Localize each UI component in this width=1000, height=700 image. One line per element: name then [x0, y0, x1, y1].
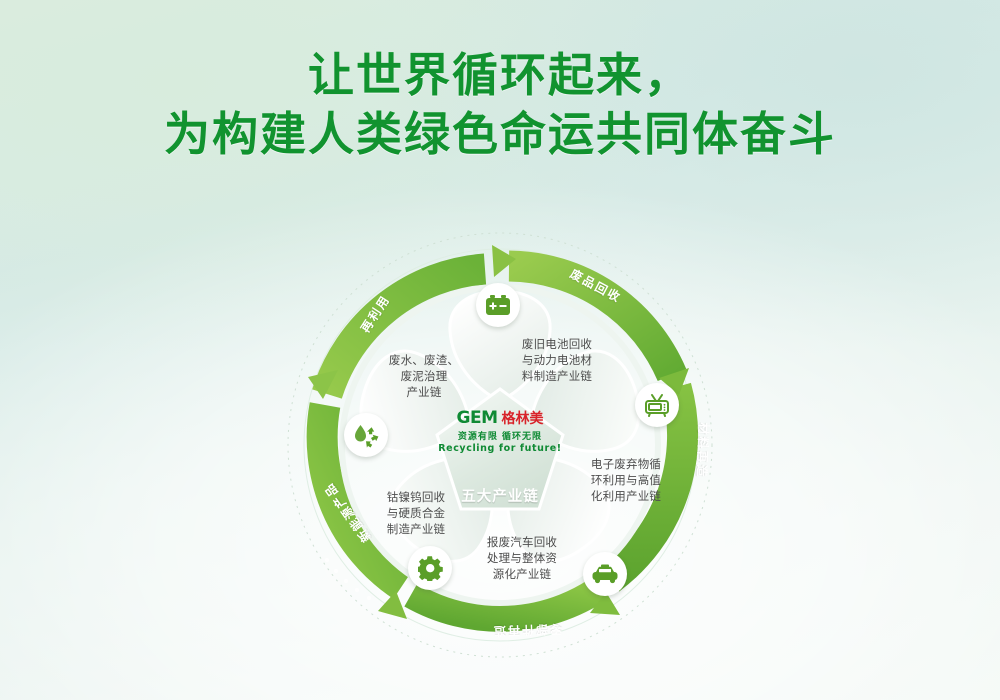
segment-label-battery: 废旧电池回收 与动力电池材 料制造产业链	[503, 337, 611, 385]
battery-icon[interactable]	[476, 283, 520, 327]
segment-label-sludge: 废水、废渣、 废泥治理 产业链	[372, 353, 476, 401]
gem-logo-chinese: 格林美	[501, 408, 543, 428]
poster-canvas: 让世界循环起来， 为构建人类绿色命运共同体奋斗	[0, 0, 1000, 700]
ring-label-parts: 零部件再造	[492, 621, 563, 640]
gem-slogan-chinese: 资源有限 循环无限	[432, 429, 568, 442]
page-title: 让世界循环起来， 为构建人类绿色命运共同体奋斗	[0, 46, 1000, 164]
gem-logo-latin: GEM	[457, 408, 498, 428]
title-line-2: 为构建人类绿色命运共同体奋斗	[0, 105, 1000, 164]
title-line-1: 让世界循环起来，	[0, 46, 1000, 105]
gem-logo: GEM 格林美	[432, 408, 568, 427]
industry-chain-diagram: 废旧电池回收 与动力电池材 料制造产业链 电子废弃物循 环利用与高值 化利用产业…	[280, 215, 720, 675]
gear-icon[interactable]	[408, 546, 452, 590]
water-recycle-icon[interactable]	[344, 413, 388, 457]
gem-slogan-english: Recycling for future!	[432, 443, 568, 454]
segment-label-auto: 报废汽车回收 处理与整体资 源化产业链	[470, 535, 574, 583]
ring-label-material: 材料再造	[694, 422, 713, 479]
segment-label-ewaste: 电子废弃物循 环利用与高值 化利用产业链	[580, 457, 672, 505]
taxi-icon[interactable]	[583, 552, 627, 596]
tv-icon[interactable]	[635, 383, 679, 427]
center-caption: 五大产业链	[432, 485, 568, 506]
center-logo-block: GEM 格林美 资源有限 循环无限 Recycling for future! …	[432, 408, 568, 506]
